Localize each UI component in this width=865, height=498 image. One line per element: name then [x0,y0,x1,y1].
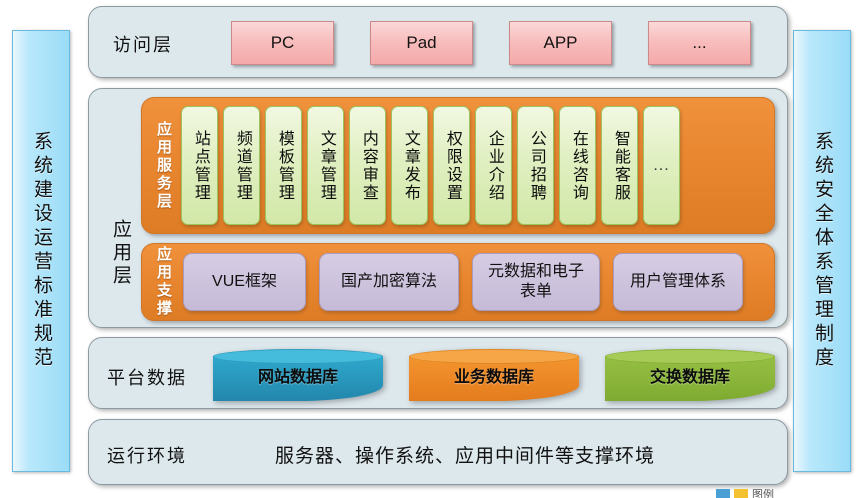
legend-swatch-blue-icon [716,489,730,498]
database-label: 网站数据库 [213,349,383,401]
support-card-domestic-encryption[interactable]: 国产加密算法 [319,253,459,311]
service-card-online-consulting[interactable]: 在线咨询 [559,106,596,225]
runtime-environment-panel: 运行环境 服务器、操作系统、应用中间件等支撑环境 [88,419,788,485]
service-card-label: 内容审查 [359,130,376,202]
application-support-band: 应用支撑 VUE框架 国产加密算法 元数据和电子表单 用户管理体系 [141,243,775,321]
service-card-smart-support[interactable]: 智能客服 [601,106,638,225]
service-card-label: 在线咨询 [569,130,586,202]
service-card-label: 权限设置 [443,130,460,202]
service-card-label: 文章管理 [317,130,334,202]
service-card-label: 模板管理 [275,130,292,202]
platform-database-row: 网站数据库 业务数据库 交换数据库 [213,346,775,404]
left-standards-bar: 系统建设运营标准规范 [12,30,70,472]
service-card-permission-settings[interactable]: 权限设置 [433,106,470,225]
service-card-label: 频道管理 [233,130,250,202]
legend-swatch-yellow-icon [734,489,748,498]
application-layer-panel: 应用层 应用服务层 站点管理 频道管理 模板管理 文章管理 内容审查 [88,88,788,328]
support-card-user-management[interactable]: 用户管理体系 [613,253,743,311]
support-card-metadata-eform[interactable]: 元数据和电子表单 [472,253,600,311]
database-cylinder-business[interactable]: 业务数据库 [409,349,579,401]
application-service-band-title: 应用服务层 [150,98,177,233]
application-service-band: 应用服务层 站点管理 频道管理 模板管理 文章管理 内容审查 文章发 [141,97,775,234]
service-card-recruitment[interactable]: 公司招聘 [517,106,554,225]
service-card-site-management[interactable]: 站点管理 [181,106,218,225]
access-layer-items: PC Pad APP ... [231,19,773,67]
service-card-template-management[interactable]: 模板管理 [265,106,302,225]
application-support-cards: VUE框架 国产加密算法 元数据和电子表单 用户管理体系 [183,253,743,311]
service-card-content-review[interactable]: 内容审查 [349,106,386,225]
application-support-band-title: 应用支撑 [150,244,177,320]
legend-text: 图例 [752,489,774,498]
right-security-bar: 系统安全体系管理制度 [793,30,851,472]
application-layer-label: 应用层 [107,219,134,288]
service-card-article-publish[interactable]: 文章发布 [391,106,428,225]
platform-data-panel: 平台数据 网站数据库 业务数据库 交换数据库 [88,337,788,409]
runtime-environment-label: 运行环境 [107,442,187,468]
application-service-cards: 站点管理 频道管理 模板管理 文章管理 内容审查 文章发布 权限 [181,106,680,225]
platform-data-label: 平台数据 [107,364,187,390]
service-card-channel-management[interactable]: 频道管理 [223,106,260,225]
architecture-diagram: 系统建设运营标准规范 系统安全体系管理制度 访问层 PC Pad APP ...… [0,0,865,498]
service-card-label: ... [653,157,669,175]
database-cylinder-exchange[interactable]: 交换数据库 [605,349,775,401]
access-layer-label: 访问层 [113,31,173,57]
database-label: 交换数据库 [605,349,775,401]
service-card-label: 站点管理 [191,130,208,202]
access-item-pc[interactable]: PC [231,21,334,65]
service-card-label: 企业介绍 [485,130,502,202]
service-card-company-intro[interactable]: 企业介绍 [475,106,512,225]
service-card-label: 智能客服 [611,130,628,202]
legend-strip: 图例 [716,489,774,498]
right-security-label: 系统安全体系管理制度 [812,131,832,371]
access-layer-panel: 访问层 PC Pad APP ... [88,6,788,78]
service-card-more[interactable]: ... [643,106,680,225]
service-card-label: 文章发布 [401,130,418,202]
service-card-label: 公司招聘 [527,130,544,202]
runtime-environment-description: 服务器、操作系统、应用中间件等支撑环境 [275,441,655,468]
support-card-vue-framework[interactable]: VUE框架 [183,253,306,311]
access-item-pad[interactable]: Pad [370,21,473,65]
service-card-article-management[interactable]: 文章管理 [307,106,344,225]
left-standards-label: 系统建设运营标准规范 [31,131,51,371]
database-label: 业务数据库 [409,349,579,401]
access-item-more[interactable]: ... [648,21,751,65]
database-cylinder-website[interactable]: 网站数据库 [213,349,383,401]
access-item-app[interactable]: APP [509,21,612,65]
